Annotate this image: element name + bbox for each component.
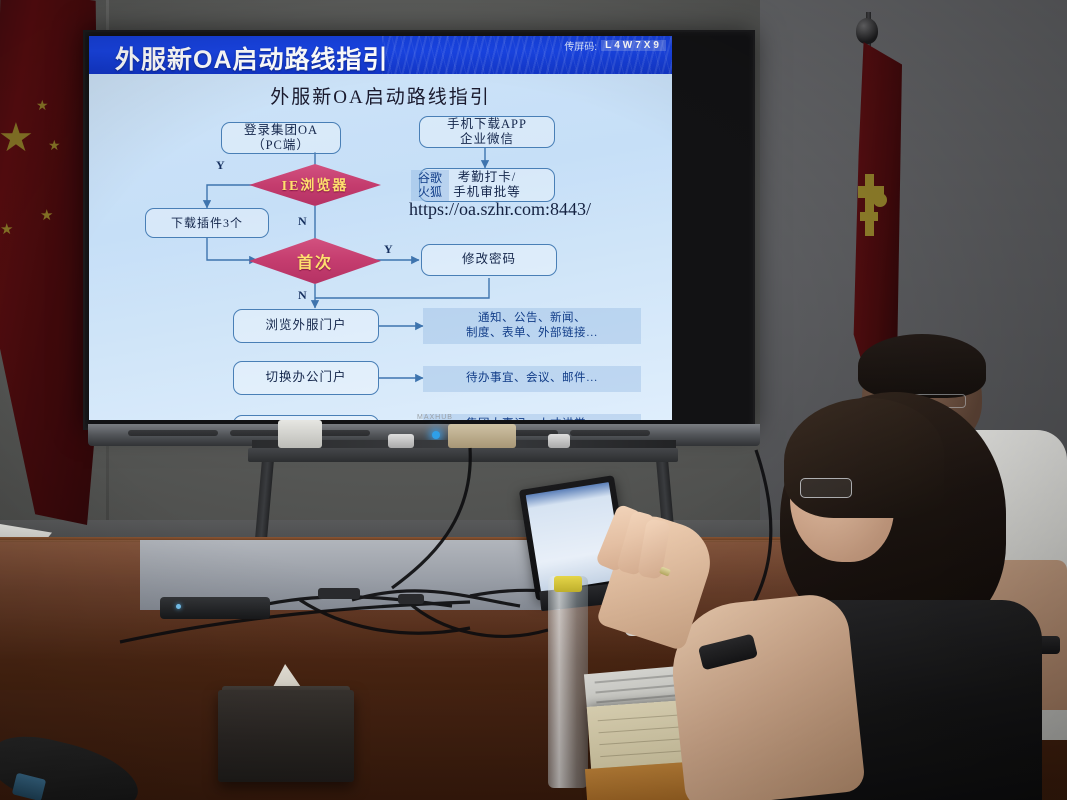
flag-star: ★ [40, 208, 53, 223]
oa-portal-url: https://oa.szhr.com:8443/ [409, 199, 591, 220]
flow-box-browse-waifu-portal: 浏览外服门户 [233, 309, 379, 343]
meeting-room-scene: ★ ★ ★ ★ ★ 外服新OA启动路线指引 传屏码: L4W7X9 外服新OA启… [0, 0, 1067, 800]
flow-box-switch-office-portal: 切换办公门户 [233, 361, 379, 395]
flow-box-browse-waifu-portal-label: 浏览外服门户 [265, 318, 346, 333]
microphone-led-icon [176, 604, 181, 609]
woman-presenter-arm [666, 591, 866, 800]
tag-office-portal-items: 待办事宜、会议、邮件… [423, 366, 641, 392]
flow-box-download-plugins: 下载插件3个 [145, 208, 269, 238]
flow-decision-ie-browser-label: IE浏览器 [282, 175, 349, 195]
flow-box-login: 登录集团OA （PC端） [221, 122, 341, 154]
slide-title: 外服新OA启动路线指引 [115, 40, 389, 76]
flow-box-login-label: 登录集团OA （PC端） [244, 123, 318, 154]
tag-waifu-portal-items: 通知、公告、新闻、 制度、表单、外部链接… [423, 308, 641, 344]
presentation-slide: 外服新OA启动路线指引 传屏码: L4W7X9 外服新OA启动路线指引 [89, 36, 672, 420]
bottle-cap [554, 576, 582, 592]
woman-presenter-hair-front [784, 398, 944, 518]
tv-brand-logo: MAXHUB [400, 414, 470, 423]
flag-star: ★ [48, 138, 61, 152]
flow-box-switch-office-portal-label: 切换办公门户 [265, 370, 346, 385]
tag-waifu-portal-items-label: 通知、公告、新闻、 制度、表单、外部链接… [466, 311, 598, 341]
flagpole-finial-icon [856, 18, 878, 44]
cast-code-label: 传屏码: [564, 38, 597, 53]
tissue-box [218, 690, 354, 782]
flag-star: ★ [36, 98, 49, 112]
browser-note-tag: 谷歌 火狐 [411, 170, 449, 201]
flag-star: ★ [0, 118, 34, 158]
screen-cast-code: 传屏码: L4W7X9 [564, 38, 666, 53]
slide-heading: 外服新OA启动路线指引 [89, 82, 672, 109]
tag-office-portal-items-label: 待办事宜、会议、邮件… [466, 371, 598, 386]
flow-decision-ie-browser: IE浏览器 [249, 164, 381, 206]
branch-label-ie-yes: Y [216, 158, 225, 173]
tag-group-portal-items-label: 集团大事记、人才讲堂、 党团建设、OA小技巧… [466, 417, 598, 420]
flow-box-change-password: 修改密码 [421, 244, 557, 276]
hammer-sickle-icon [856, 160, 888, 252]
flow-decision-first-time: 首次 [249, 238, 381, 284]
cast-code-value: L4W7X9 [601, 40, 666, 51]
branch-label-first-yes: Y [384, 242, 393, 257]
water-bottle [548, 576, 588, 788]
flow-box-download-plugins-label: 下载插件3个 [171, 216, 243, 231]
flow-box-mobile-app-label: 手机下载APP 企业微信 [447, 117, 527, 148]
woman-glasses-icon [800, 478, 852, 498]
flow-decision-first-time-label: 首次 [297, 249, 333, 273]
flow-box-attendance-label: 考勤打卡/ 手机审批等 [453, 170, 521, 201]
branch-label-first-no: N [298, 288, 307, 303]
branch-label-ie-no: N [298, 214, 307, 229]
man-background-hair [858, 334, 986, 398]
flag-star: ★ [0, 222, 13, 237]
flow-box-mobile-app: 手机下载APP 企业微信 [419, 116, 555, 148]
flow-box-change-password-label: 修改密码 [462, 252, 516, 267]
